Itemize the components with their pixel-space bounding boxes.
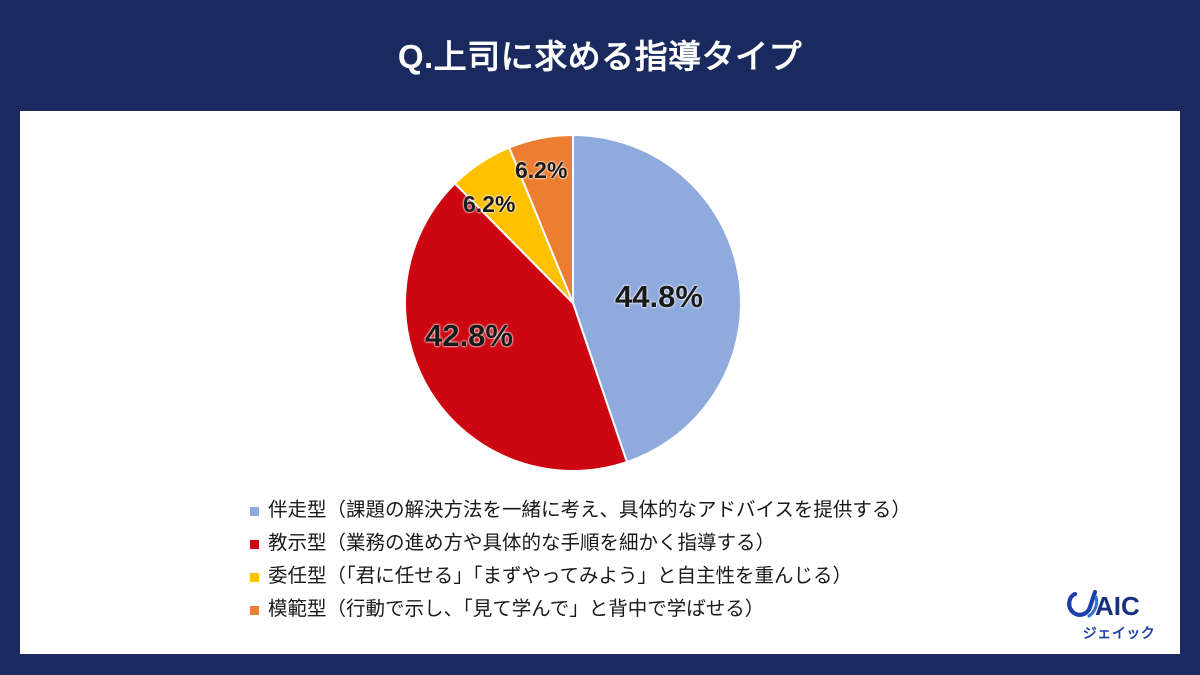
chart-legend: 伴走型（課題の解決方法を一緒に考え、具体的なアドバイスを提供する） 教示型（業務… — [250, 494, 1050, 626]
pie-chart-canvas: 44.8% 42.8% 6.2% 6.2% — [403, 133, 743, 473]
jaic-logo: AIC ジェイック — [1065, 588, 1173, 650]
slice-label-3: 6.2% — [515, 157, 567, 184]
svg-text:AIC: AIC — [1095, 591, 1140, 621]
slice-label-2: 6.2% — [463, 191, 515, 218]
legend-item-label: 委任型（「君に任せる」「まずやってみよう」と自主性を重んじる） — [268, 567, 852, 587]
legend-swatch-icon — [250, 540, 259, 549]
legend-item: 委任型（「君に任せる」「まずやってみよう」と自主性を重んじる） — [250, 560, 1050, 593]
slice-label-0: 44.8% — [615, 279, 703, 315]
legend-item-label: 伴走型（課題の解決方法を一緒に考え、具体的なアドバイスを提供する） — [268, 501, 911, 521]
content-card: 44.8% 42.8% 6.2% 6.2% 伴走型（課題の解決方法を一緒に考え、… — [20, 111, 1180, 654]
legend-item: 教示型（業務の進め方や具体的な手順を細かく指導する） — [250, 527, 1050, 560]
slice-label-1: 42.8% — [425, 318, 513, 354]
page-title: Q.上司に求める指導タイプ — [0, 0, 1200, 108]
legend-item: 模範型（行動で示し、「見て学んで」と背中で学ばせる） — [250, 593, 1050, 626]
legend-swatch-icon — [250, 606, 259, 615]
jaic-logo-subtext: ジェイック — [1065, 623, 1173, 643]
jaic-logo-icon: AIC — [1065, 588, 1173, 622]
legend-item-label: 教示型（業務の進め方や具体的な手順を細かく指導する） — [268, 534, 775, 554]
pie-chart: 44.8% 42.8% 6.2% 6.2% — [20, 111, 1180, 491]
slide-root: Q.上司に求める指導タイプ 44.8% 42.8% 6.2% 6.2% 伴走型（… — [0, 0, 1200, 675]
legend-item: 伴走型（課題の解決方法を一緒に考え、具体的なアドバイスを提供する） — [250, 494, 1050, 527]
legend-item-label: 模範型（行動で示し、「見て学んで」と背中で学ばせる） — [268, 600, 764, 620]
legend-swatch-icon — [250, 507, 259, 516]
legend-swatch-icon — [250, 573, 259, 582]
